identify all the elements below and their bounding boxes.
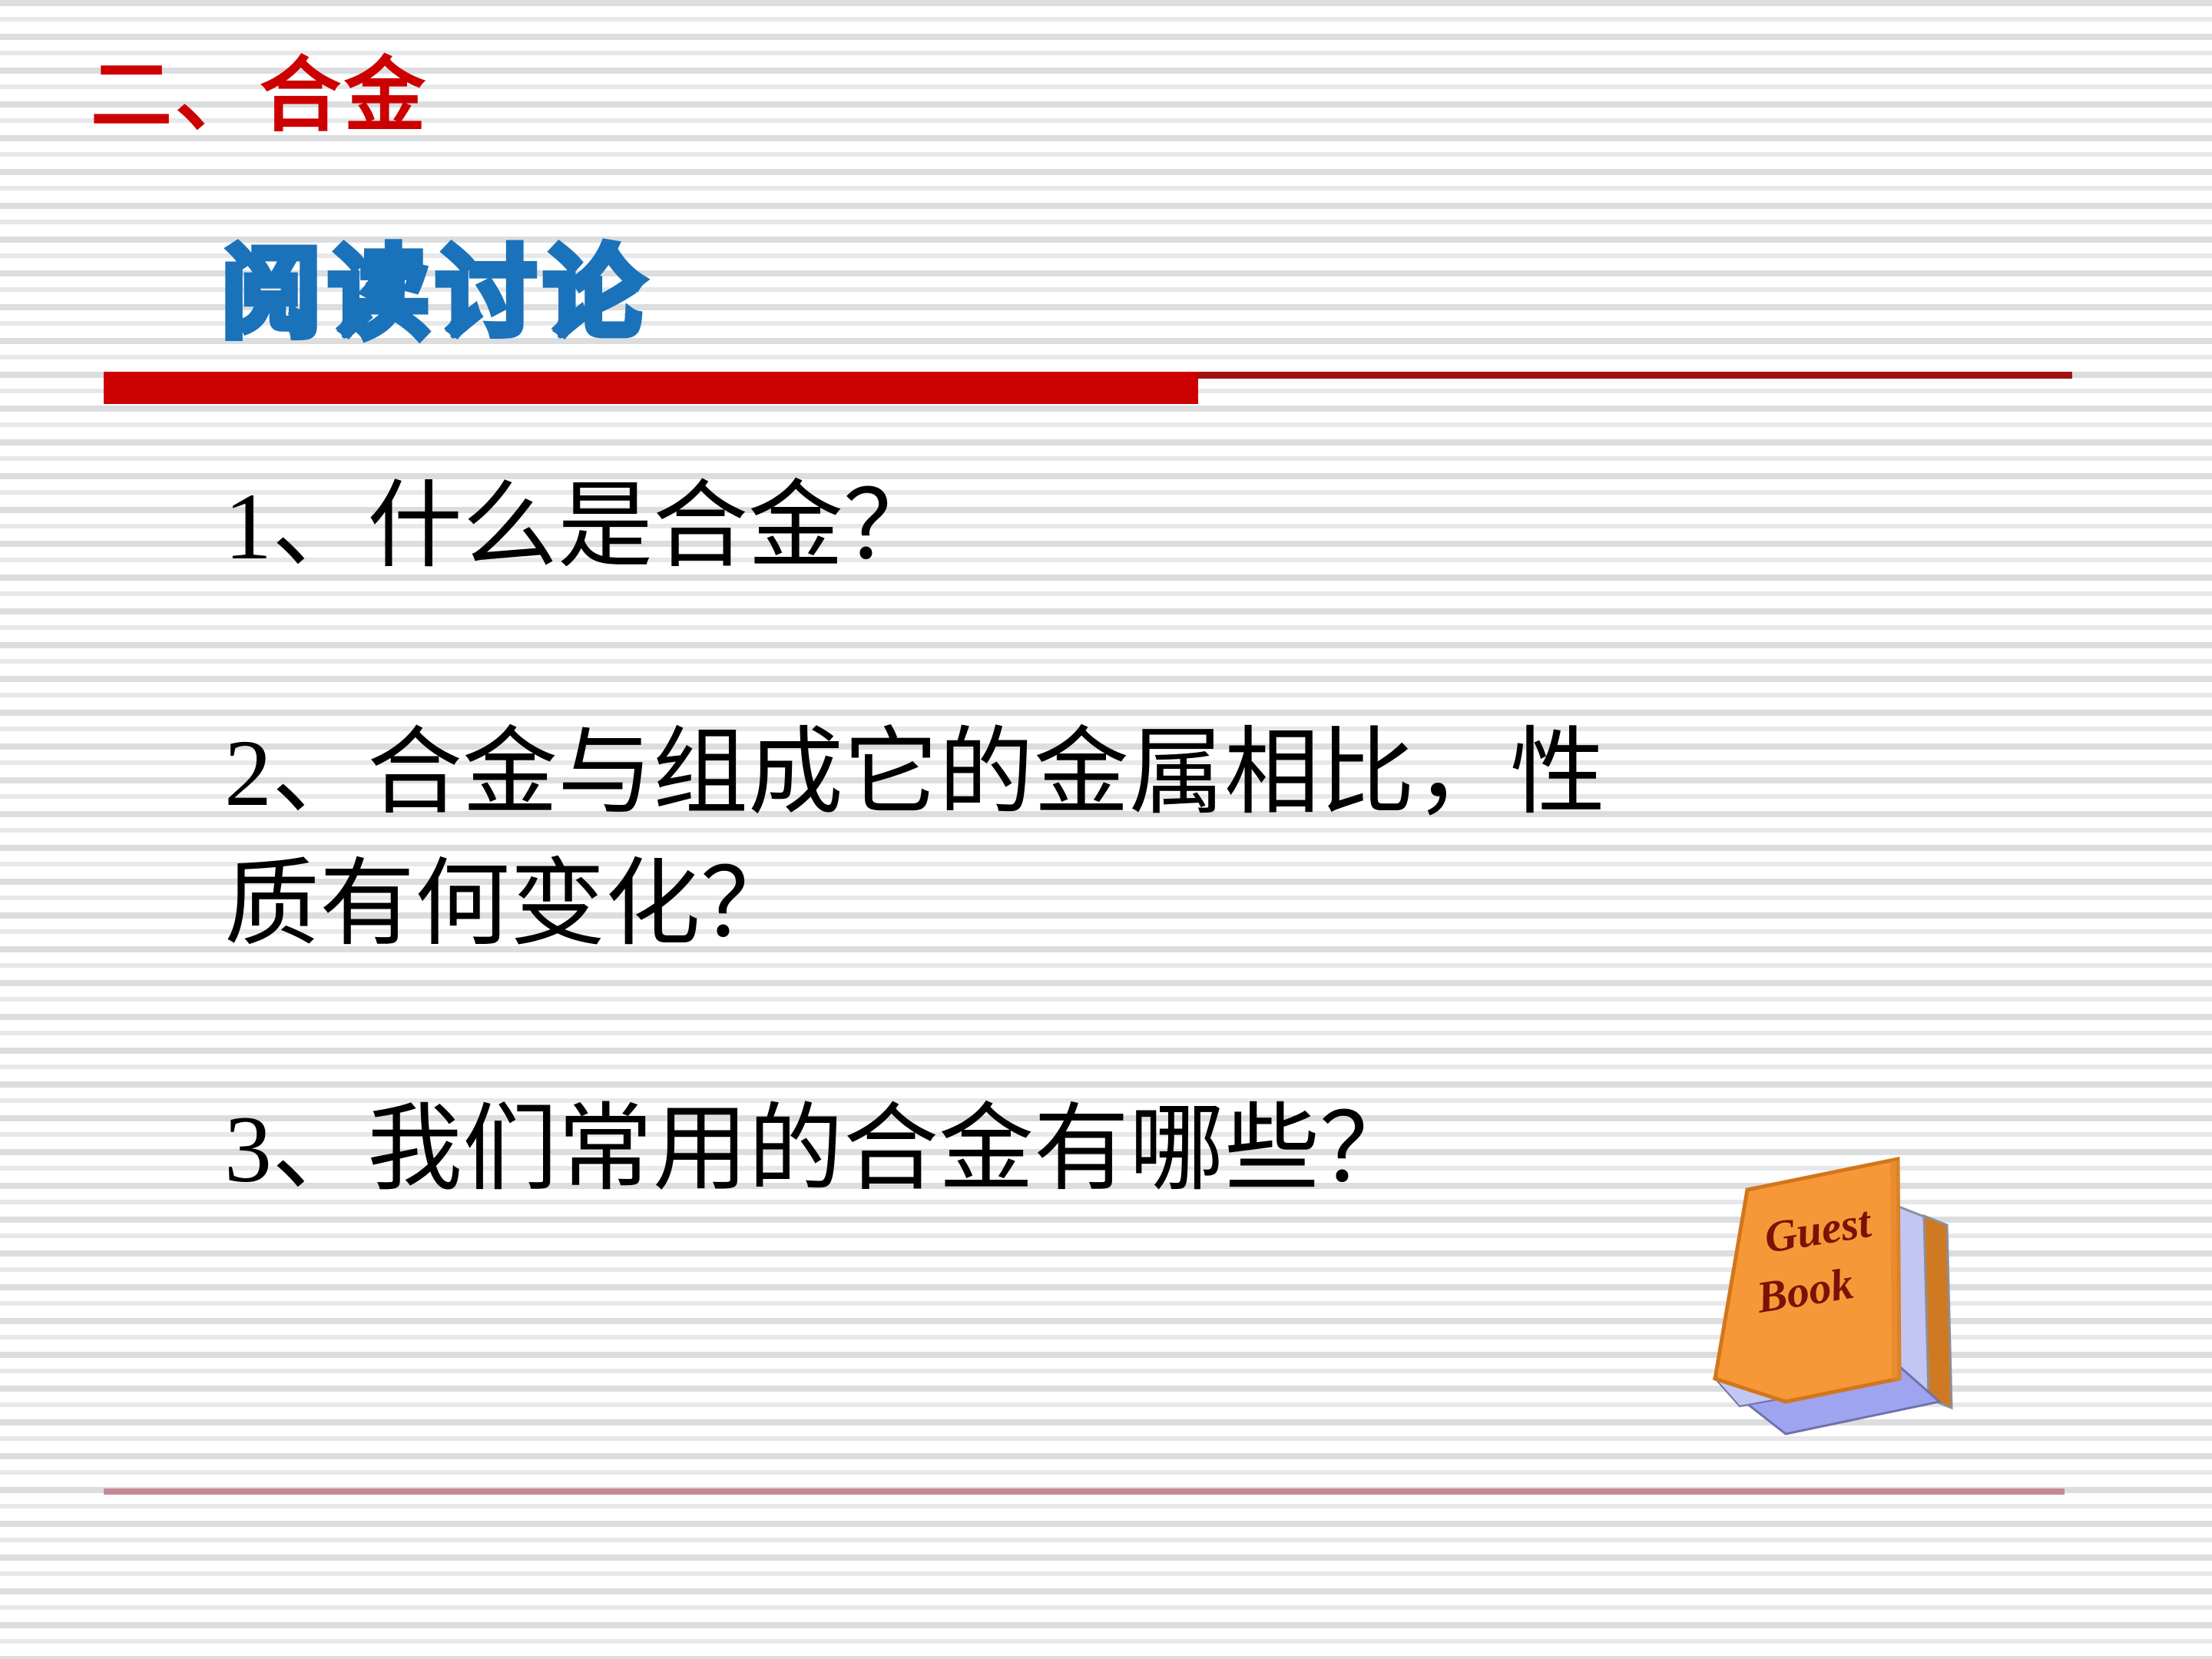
question-item-1: 1、什么是合金？ — [224, 461, 2014, 592]
heading-divider-thick-bar — [104, 372, 1198, 404]
question-item-2-line-1: 2、合金与组成它的金属相比，性 — [224, 707, 2014, 839]
footer-divider — [104, 1488, 2065, 1495]
reading-discussion-heading: 阅读讨论 — [221, 237, 651, 352]
question-item-2-line-2: 质有何变化？ — [224, 839, 2014, 970]
slide-canvas: 二、合金 阅读讨论 1、什么是合金？ 2、合金与组成它的金属相比，性 质有何变化… — [0, 0, 2212, 1659]
heading-divider — [104, 372, 2072, 404]
guest-book-icon: Guest Book — [1694, 1148, 1955, 1444]
question-list: 1、什么是合金？ 2、合金与组成它的金属相比，性 质有何变化？ 3、我们常用的合… — [224, 461, 2014, 1215]
page-title: 二、合金 — [91, 55, 429, 137]
